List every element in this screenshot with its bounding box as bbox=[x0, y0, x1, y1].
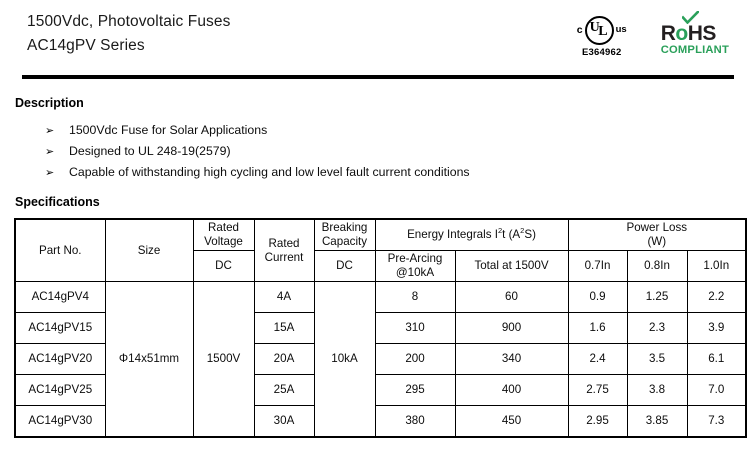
cell-breaking-capacity: 10kA bbox=[314, 282, 375, 438]
cell-rated-current: 25A bbox=[254, 375, 314, 406]
datasheet-page: 1500Vdc, Photovoltaic Fuses AC14gPV Seri… bbox=[0, 0, 753, 460]
cell-rated-current: 30A bbox=[254, 406, 314, 438]
pre-arcing-line-2: @10kA bbox=[396, 266, 434, 279]
cell-pre-arcing: 8 bbox=[375, 282, 455, 313]
energy-integrals-mid: t (A bbox=[502, 228, 520, 241]
header-size: Size bbox=[105, 219, 193, 282]
cell-rated-current: 15A bbox=[254, 313, 314, 344]
table-row: AC14gPV4 Φ14x51mm 1500V 4A 10kA 8 60 0.9… bbox=[15, 282, 746, 313]
header-power-loss-07in: 0.7In bbox=[568, 251, 627, 282]
list-item-label: Designed to UL 248-19(2579) bbox=[69, 144, 231, 158]
cell-power-loss-10in: 6.1 bbox=[687, 344, 746, 375]
cell-part-no: AC14gPV15 bbox=[15, 313, 105, 344]
page-header: 1500Vdc, Photovoltaic Fuses AC14gPV Seri… bbox=[0, 0, 753, 78]
list-item-label: Capable of withstanding high cycling and… bbox=[69, 165, 470, 179]
ul-usa-letters: us bbox=[616, 25, 627, 35]
cell-power-loss-07in: 2.4 bbox=[568, 344, 627, 375]
cell-total: 60 bbox=[455, 282, 568, 313]
power-loss-line-1: Power Loss bbox=[626, 221, 687, 234]
header-rated-current: Rated Current bbox=[254, 219, 314, 282]
cell-rated-voltage: 1500V bbox=[193, 282, 254, 438]
power-loss-line-2: (W) bbox=[647, 235, 666, 248]
cell-power-loss-08in: 3.5 bbox=[627, 344, 687, 375]
cell-power-loss-08in: 1.25 bbox=[627, 282, 687, 313]
cell-total: 400 bbox=[455, 375, 568, 406]
certification-marks: c U L us E364962 RoHS COMPLIANT bbox=[565, 14, 729, 58]
cell-total: 450 bbox=[455, 406, 568, 438]
cell-power-loss-07in: 1.6 bbox=[568, 313, 627, 344]
ul-canada-letter: c bbox=[577, 25, 583, 36]
cell-part-no: AC14gPV4 bbox=[15, 282, 105, 313]
cell-pre-arcing: 295 bbox=[375, 375, 455, 406]
header-rated-voltage-dc: DC bbox=[193, 251, 254, 282]
cell-power-loss-07in: 0.9 bbox=[568, 282, 627, 313]
header-breaking-capacity: Breaking Capacity bbox=[314, 219, 375, 251]
arrow-bullet-icon: ➢ bbox=[45, 145, 69, 158]
energy-integrals-suffix: S) bbox=[524, 228, 536, 241]
list-item: ➢ Capable of withstanding high cycling a… bbox=[45, 165, 470, 186]
cell-power-loss-10in: 7.0 bbox=[687, 375, 746, 406]
checkmark-icon bbox=[682, 11, 699, 24]
ul-mark-row: c U L us bbox=[565, 14, 639, 46]
cell-total: 900 bbox=[455, 313, 568, 344]
header-part-no: Part No. bbox=[15, 219, 105, 282]
cell-part-no: AC14gPV30 bbox=[15, 406, 105, 438]
description-heading: Description bbox=[15, 96, 84, 110]
rohs-letters-hs: HS bbox=[688, 22, 716, 45]
rohs-compliant-label: COMPLIANT bbox=[661, 44, 729, 56]
table-header-row-1: Part No. Size Rated Voltage Rated Curren… bbox=[15, 219, 746, 251]
cell-power-loss-07in: 2.95 bbox=[568, 406, 627, 438]
description-list: ➢ 1500Vdc Fuse for Solar Applications ➢ … bbox=[45, 123, 470, 186]
cell-rated-current: 20A bbox=[254, 344, 314, 375]
header-divider bbox=[22, 75, 734, 79]
ul-letter-l: L bbox=[598, 25, 607, 39]
cell-size: Φ14x51mm bbox=[105, 282, 193, 438]
ul-circle-icon: U L bbox=[585, 16, 614, 45]
rohs-letter-o: o bbox=[675, 22, 687, 45]
rohs-compliant-icon: RoHS COMPLIANT bbox=[661, 14, 729, 56]
energy-integrals-prefix: Energy Integrals I bbox=[407, 228, 498, 241]
cell-pre-arcing: 200 bbox=[375, 344, 455, 375]
cell-part-no: AC14gPV20 bbox=[15, 344, 105, 375]
header-power-loss-10in: 1.0In bbox=[687, 251, 746, 282]
ul-listed-icon: c U L us E364962 bbox=[565, 14, 639, 58]
arrow-bullet-icon: ➢ bbox=[45, 166, 69, 179]
specifications-heading: Specifications bbox=[15, 195, 100, 209]
page-title-line-2: AC14gPV Series bbox=[27, 34, 230, 58]
arrow-bullet-icon: ➢ bbox=[45, 124, 69, 137]
list-item-label: 1500Vdc Fuse for Solar Applications bbox=[69, 123, 267, 137]
cell-power-loss-08in: 3.85 bbox=[627, 406, 687, 438]
ul-file-number: E364962 bbox=[565, 47, 639, 58]
rohs-wordmark: RoHS bbox=[661, 23, 729, 45]
pre-arcing-line-1: Pre-Arcing bbox=[388, 252, 443, 265]
header-power-loss-08in: 0.8In bbox=[627, 251, 687, 282]
rohs-letter-r: R bbox=[661, 22, 676, 45]
cell-power-loss-10in: 7.3 bbox=[687, 406, 746, 438]
cell-part-no: AC14gPV25 bbox=[15, 375, 105, 406]
header-pre-arcing: Pre-Arcing@10kA bbox=[375, 251, 455, 282]
title-block: 1500Vdc, Photovoltaic Fuses AC14gPV Seri… bbox=[27, 10, 230, 58]
cell-total: 340 bbox=[455, 344, 568, 375]
list-item: ➢ 1500Vdc Fuse for Solar Applications bbox=[45, 123, 470, 144]
header-power-loss: Power Loss(W) bbox=[568, 219, 746, 251]
cell-pre-arcing: 380 bbox=[375, 406, 455, 438]
list-item: ➢ Designed to UL 248-19(2579) bbox=[45, 144, 470, 165]
cell-power-loss-07in: 2.75 bbox=[568, 375, 627, 406]
header-total-at-1500v: Total at 1500V bbox=[455, 251, 568, 282]
cell-pre-arcing: 310 bbox=[375, 313, 455, 344]
cell-power-loss-08in: 3.8 bbox=[627, 375, 687, 406]
cell-rated-current: 4A bbox=[254, 282, 314, 313]
cell-power-loss-10in: 2.2 bbox=[687, 282, 746, 313]
header-energy-integrals: Energy Integrals I2t (A2S) bbox=[375, 219, 568, 251]
cell-power-loss-10in: 3.9 bbox=[687, 313, 746, 344]
header-rated-voltage: Rated Voltage bbox=[193, 219, 254, 251]
cell-power-loss-08in: 2.3 bbox=[627, 313, 687, 344]
specifications-table: Part No. Size Rated Voltage Rated Curren… bbox=[14, 218, 747, 438]
page-title-line-1: 1500Vdc, Photovoltaic Fuses bbox=[27, 10, 230, 34]
header-breaking-capacity-dc: DC bbox=[314, 251, 375, 282]
